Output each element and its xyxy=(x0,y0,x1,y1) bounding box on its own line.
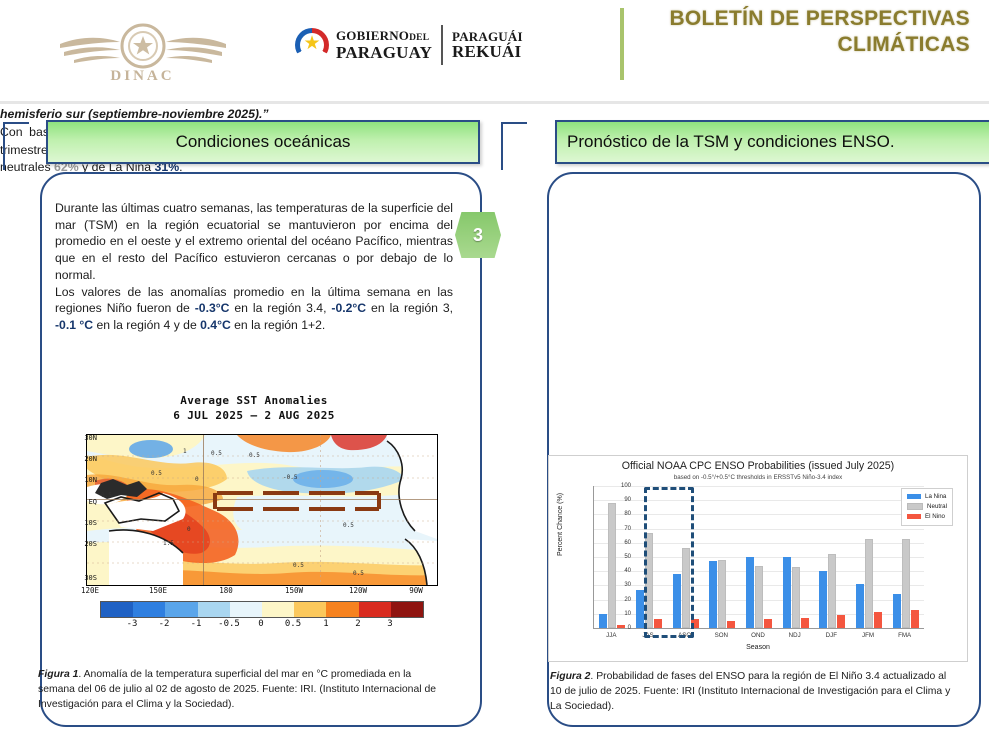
nino12-anomaly: 0.4°C xyxy=(200,318,231,332)
sst-anomaly-field: 10.50.5 0.50-0.5 0.500.5 1.50.50.5 xyxy=(87,435,437,585)
enso-plot-area xyxy=(593,486,924,629)
bar-el-nino-SON xyxy=(727,621,735,628)
bulletin-title: BOLETÍN DE PERSPECTIVAS CLIMÁTICAS xyxy=(640,6,970,57)
bar-la-nina-FMA xyxy=(893,594,901,628)
section-title-enso: Pronóstico de la TSM y condiciones ENSO. xyxy=(567,132,895,152)
gov-right2: REKUÁI xyxy=(452,43,523,60)
sst-ytick-10s: 10S xyxy=(57,519,97,527)
bar-la-nina-DJF xyxy=(819,571,827,628)
step-badge-3: 3 xyxy=(455,212,501,258)
bar-el-nino-DJF xyxy=(837,615,845,628)
right-bracket-decoration xyxy=(501,122,527,170)
nino34-anomaly: -0.3°C xyxy=(195,301,230,315)
sst-xtick-90w: 90W xyxy=(409,586,423,595)
dinac-label: DINAC xyxy=(110,68,174,85)
bar-la-nina-SON xyxy=(709,561,717,628)
cbar-tick--1: -1 xyxy=(191,619,202,629)
svg-text:0.5: 0.5 xyxy=(211,450,222,457)
enso-xtick-OND: OND xyxy=(751,632,765,639)
sst-map-title-line2: 6 JUL 2025 – 2 AUG 2025 xyxy=(58,409,450,424)
enso-ytick-50: 50 xyxy=(603,554,631,560)
section-header-enso: Pronóstico de la TSM y condiciones ENSO. xyxy=(555,120,989,164)
sst-xtick-120e: 120E xyxy=(81,586,99,595)
cbar-tick--0.5: -0.5 xyxy=(218,619,240,629)
nino3-anomaly: -0.2°C xyxy=(331,301,366,315)
svg-text:1: 1 xyxy=(183,448,187,455)
sst-map-title: Average SST Anomalies 6 JUL 2025 – 2 AUG… xyxy=(58,394,450,423)
enso-chart-subtitle: based on -0.5°/+0.5°C thresholds in ERSS… xyxy=(549,474,967,481)
cbar-tick--3: -3 xyxy=(127,619,138,629)
enso-xtick-JFM: JFM xyxy=(862,632,874,639)
enso-xtick-JJA: JJA xyxy=(606,632,616,639)
legend-item-elnino: El Nino xyxy=(907,512,947,522)
sst-xtick-150w: 150W xyxy=(285,586,303,595)
figure-2-label: Figura 2 xyxy=(550,671,590,682)
figure-2-caption: Figura 2. Probabilidad de fases del ENSO… xyxy=(550,670,960,714)
sst-ytick-20s: 20S xyxy=(57,540,97,548)
enso-ytick-60: 60 xyxy=(603,540,631,546)
svg-text:0.5: 0.5 xyxy=(343,522,354,529)
svg-text:0: 0 xyxy=(195,476,199,483)
paraguay-emblem-icon: ★ xyxy=(295,28,329,62)
header-accent-bar xyxy=(620,8,624,80)
sst-xtick-150e: 150E xyxy=(149,586,167,595)
svg-text:0.5: 0.5 xyxy=(293,562,304,569)
gov-line2: PARAGUAY xyxy=(336,44,432,61)
sst-ytick-eq: EQ xyxy=(57,498,97,506)
bar-neutral-OND xyxy=(755,566,763,628)
enso-ytick-40: 40 xyxy=(603,568,631,574)
bar-neutral-NDJ xyxy=(792,567,800,628)
enso-chart-title: Official NOAA CPC ENSO Probabilities (is… xyxy=(549,460,967,472)
figure-1-caption: Figura 1. Anomalía de la temperatura sup… xyxy=(38,668,448,712)
dinac-wings-icon xyxy=(58,20,228,72)
ocean-paragraph-1: Durante las últimas cuatro semanas, las … xyxy=(55,200,453,284)
government-logo: ★ GOBIERNODEL PARAGUAY PARAGUÁI REKUÁI xyxy=(295,22,523,68)
section-title-ocean: Condiciones oceánicas xyxy=(176,132,351,152)
sst-ytick-20n: 20N xyxy=(57,455,97,463)
enso-highlight-box xyxy=(644,487,694,638)
enso-xtick-NDJ: NDJ xyxy=(789,632,801,639)
sst-ytick-30s: 30S xyxy=(57,574,97,582)
enso-ytick-100: 100 xyxy=(603,483,631,489)
bar-el-nino-JFM xyxy=(874,612,882,628)
gov-line1: GOBIERNO xyxy=(336,28,409,43)
sst-colorbar xyxy=(100,601,424,618)
bar-neutral-SON xyxy=(718,560,726,628)
bar-neutral-JFM xyxy=(865,539,873,628)
enso-ytick-30: 30 xyxy=(603,582,631,588)
sst-xtick-120w: 120W xyxy=(349,586,367,595)
bar-la-nina-JFM xyxy=(856,584,864,628)
svg-text:0.5: 0.5 xyxy=(249,452,260,459)
figure-1-sst-map: Average SST Anomalies 6 JUL 2025 – 2 AUG… xyxy=(58,394,450,646)
gov-line1-small: DEL xyxy=(409,33,429,43)
page-header: DINAC ★ GOBIERNODEL PARAGUAY PARAGUÁI RE… xyxy=(0,0,989,104)
bar-la-nina-NDJ xyxy=(783,557,791,628)
enso-ytick-0: 0 xyxy=(603,625,631,631)
bar-el-nino-FMA xyxy=(911,610,919,628)
sst-ytick-30n: 30N xyxy=(57,434,97,442)
svg-text:1.5: 1.5 xyxy=(163,540,174,547)
ocean-body-text: Durante las últimas cuatro semanas, las … xyxy=(55,200,453,334)
enso-group-NDJ xyxy=(783,486,809,628)
svg-text:0: 0 xyxy=(187,526,191,533)
cbar-tick-2: 2 xyxy=(355,619,360,629)
svg-text:-0.5: -0.5 xyxy=(283,474,298,481)
enso-legend: La Nina Neutral El Nino xyxy=(901,488,953,526)
section-header-ocean: Condiciones oceánicas xyxy=(46,120,480,164)
bar-el-nino-OND xyxy=(764,619,772,628)
enso-ytick-20: 20 xyxy=(603,597,631,603)
enso-y-axis-label: Percent Chance (%) xyxy=(557,493,564,556)
sst-xtick-180: 180 xyxy=(219,586,233,595)
nino4-anomaly: -0.1 °C xyxy=(55,318,93,332)
ocean-paragraph-2: Los valores de las anomalías promedio en… xyxy=(55,284,453,334)
cbar-tick-1: 1 xyxy=(323,619,328,629)
left-bracket-decoration xyxy=(3,122,29,170)
cbar-tick-0.5: 0.5 xyxy=(285,619,301,629)
bulletin-title-line2: CLIMÁTICAS xyxy=(640,32,970,58)
bar-neutral-FMA xyxy=(902,539,910,628)
enso-group-DJF xyxy=(819,486,845,628)
cbar-tick--2: -2 xyxy=(159,619,170,629)
legend-item-lanina: La Nina xyxy=(907,492,947,502)
cbar-tick-3: 3 xyxy=(387,619,392,629)
sst-map-title-line1: Average SST Anomalies xyxy=(58,394,450,409)
logo-divider xyxy=(441,25,443,65)
svg-text:0.5: 0.5 xyxy=(151,470,162,477)
bar-neutral-DJF xyxy=(828,554,836,628)
enso-xtick-DJF: DJF xyxy=(826,632,837,639)
bar-la-nina-OND xyxy=(746,557,754,628)
enso-ytick-70: 70 xyxy=(603,526,631,532)
sst-map-plot: 10.50.5 0.50-0.5 0.500.5 1.50.50.5 xyxy=(86,434,438,586)
enso-ytick-10: 10 xyxy=(603,611,631,617)
government-wordmark-es: GOBIERNODEL PARAGUAY xyxy=(336,29,432,61)
enso-xtick-SON: SON xyxy=(715,632,728,639)
bar-el-nino-NDJ xyxy=(801,618,809,628)
government-wordmark-gn: PARAGUÁI REKUÁI xyxy=(452,30,523,60)
figure-2-enso-chart: Official NOAA CPC ENSO Probabilities (is… xyxy=(548,455,968,662)
legend-item-neutral: Neutral xyxy=(907,502,947,512)
svg-text:0.5: 0.5 xyxy=(353,570,364,577)
enso-group-OND xyxy=(746,486,772,628)
enso-group-JFM xyxy=(856,486,882,628)
cbar-tick-0: 0 xyxy=(258,619,263,629)
enso-x-axis-label: Season xyxy=(549,644,967,651)
svg-text:0.5: 0.5 xyxy=(101,492,112,499)
figure-1-caption-text: . Anomalía de la temperatura superficial… xyxy=(38,669,436,710)
enso-group-SON xyxy=(709,486,735,628)
enso-ytick-80: 80 xyxy=(603,511,631,517)
bulletin-title-line1: BOLETÍN DE PERSPECTIVAS xyxy=(640,6,970,32)
enso-xtick-FMA: FMA xyxy=(898,632,911,639)
figure-1-label: Figura 1 xyxy=(38,669,78,680)
sst-ytick-10n: 10N xyxy=(57,476,97,484)
figure-2-caption-text: . Probabilidad de fases del ENSO para la… xyxy=(550,671,950,712)
dinac-logo: DINAC xyxy=(55,4,230,100)
step-badge-number: 3 xyxy=(473,225,483,246)
bar-la-nina-JAS xyxy=(636,590,644,628)
bar-neutral-JJA xyxy=(608,503,616,628)
enso-ytick-90: 90 xyxy=(603,497,631,503)
